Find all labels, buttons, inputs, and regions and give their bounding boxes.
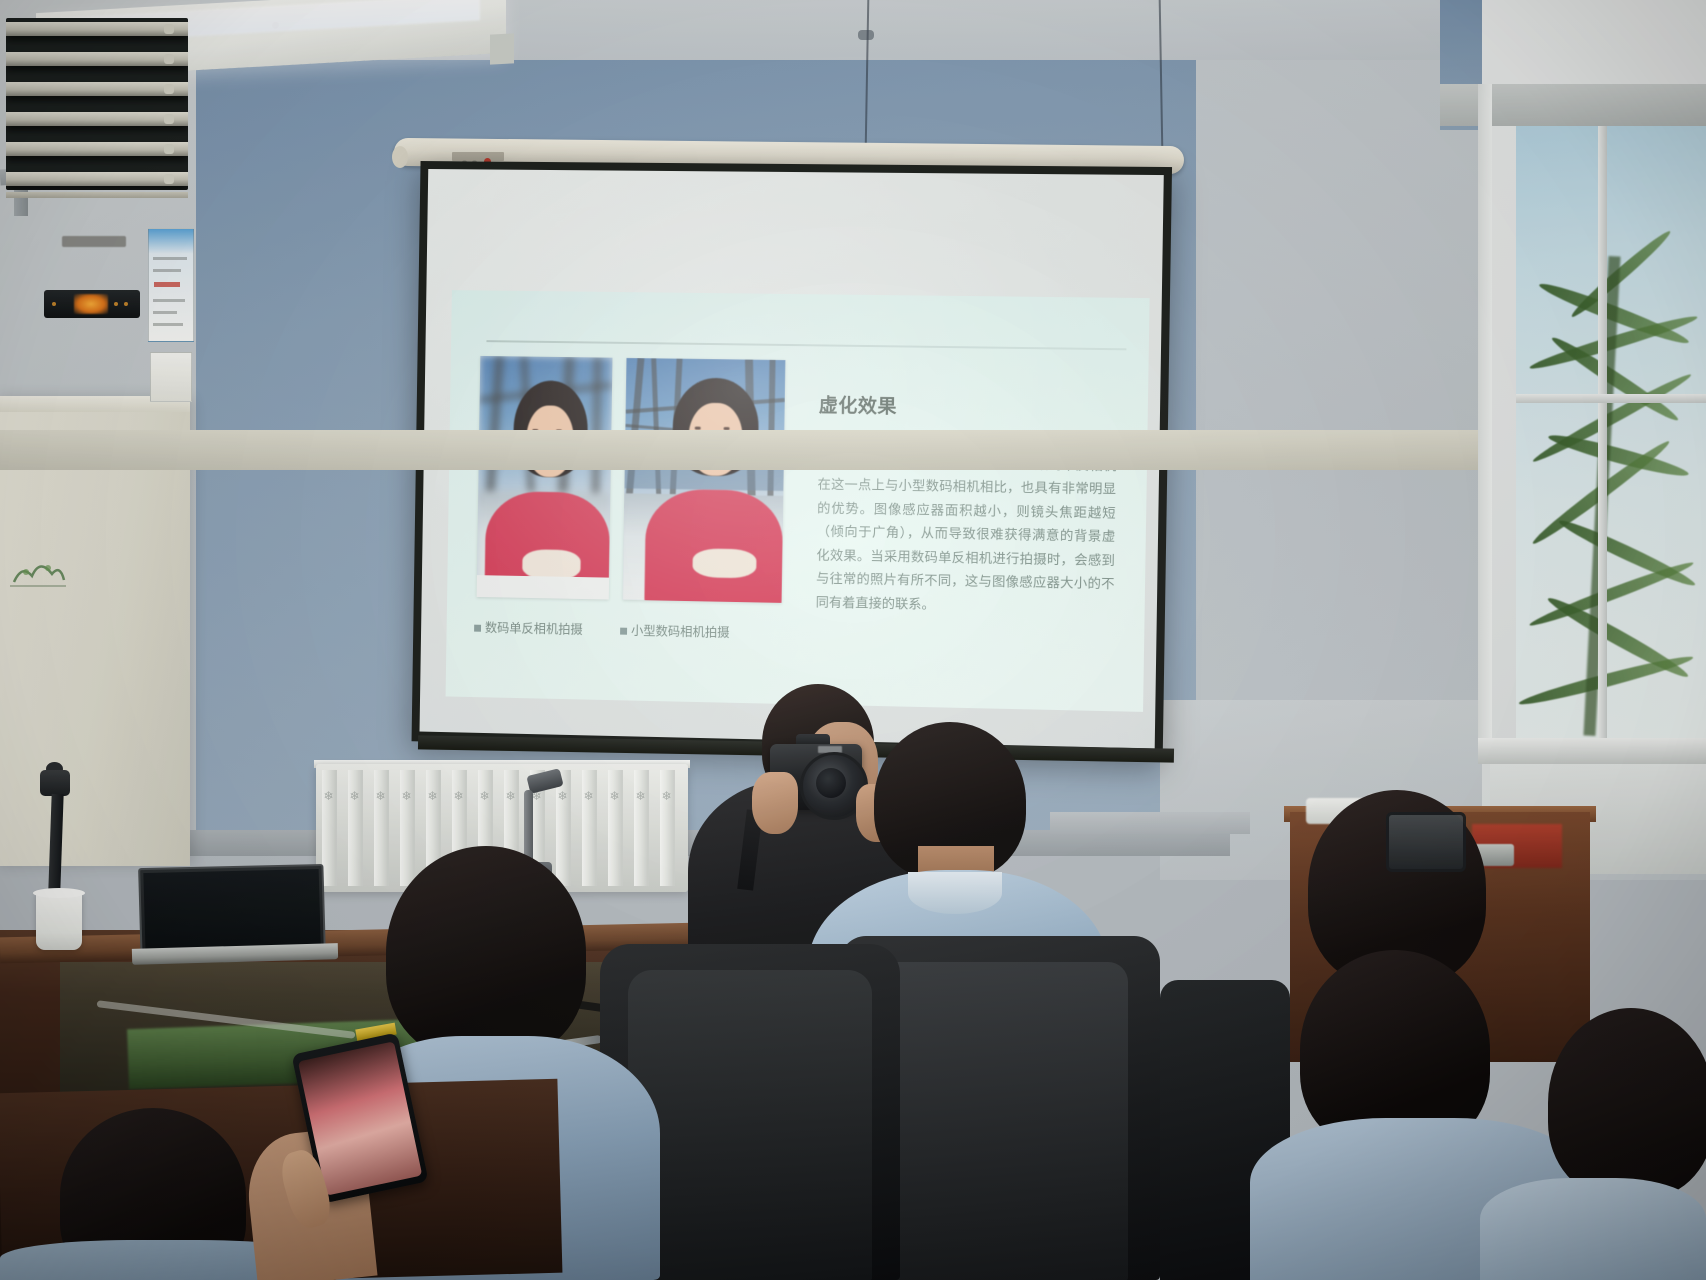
photo-red-coat bbox=[645, 489, 784, 603]
ac-brand-logo bbox=[62, 236, 126, 247]
camera-lens-aperture bbox=[816, 768, 846, 798]
caption-text: 数码单反相机拍摄 bbox=[485, 620, 583, 637]
room-photo-scene: 虚化效果 图示照片成像视觉效果的主要区别就在于背景的虚化效果不同。而能够更换镜头… bbox=[0, 0, 1706, 1280]
window-mullion-horizontal bbox=[1516, 394, 1706, 403]
ac-bottom-panel bbox=[0, 430, 1706, 470]
office-chair-center-back bbox=[872, 962, 1128, 1280]
wire-hook bbox=[858, 30, 874, 40]
window-mullion-vertical bbox=[1598, 126, 1607, 738]
slide-divider-rule bbox=[486, 340, 1126, 350]
slide-photo-dslr bbox=[477, 356, 613, 600]
slide-title: 虚化效果 bbox=[819, 390, 1122, 421]
caption-marker-icon bbox=[620, 628, 627, 635]
laptop-screen bbox=[143, 869, 320, 953]
caption-marker-icon bbox=[474, 625, 481, 632]
roller-brand-label bbox=[452, 152, 504, 161]
photo-hands bbox=[522, 550, 581, 580]
slide-caption-compact: 小型数码相机拍摄 bbox=[620, 621, 730, 641]
slide-photo-compact bbox=[623, 358, 786, 603]
ac-temperature-display bbox=[74, 294, 108, 314]
window-sill bbox=[1478, 738, 1706, 764]
ac-decorative-decal bbox=[10, 552, 66, 590]
audience-right-third-shirt bbox=[1480, 1178, 1706, 1280]
audience-right-glasses bbox=[1386, 812, 1466, 872]
paper-cup[interactable] bbox=[36, 892, 82, 950]
ac-control-panel[interactable] bbox=[44, 290, 140, 318]
window-glass bbox=[1516, 126, 1706, 738]
slide-caption-dslr: 数码单反相机拍摄 bbox=[474, 618, 583, 638]
office-chair-left-back bbox=[628, 970, 872, 1280]
audience-right-third-head bbox=[1548, 1008, 1706, 1198]
presentation-slide: 虚化效果 图示照片成像视觉效果的主要区别就在于背景的虚化效果不同。而能够更换镜头… bbox=[446, 290, 1150, 712]
window-jamb bbox=[1478, 84, 1492, 764]
presenter-left-hand bbox=[752, 772, 798, 834]
audience-left-head bbox=[386, 846, 586, 1060]
ac-secondary-sticker bbox=[150, 352, 192, 402]
baseboard-right bbox=[1050, 812, 1250, 834]
tripod-leg bbox=[48, 794, 63, 890]
ac-sticker-red-band bbox=[154, 282, 180, 287]
paper-cup-rim bbox=[33, 888, 85, 898]
photo-hands bbox=[693, 548, 757, 578]
audience-center-collar bbox=[908, 872, 1002, 914]
light-fixture-end-cap bbox=[490, 33, 514, 64]
laptop[interactable] bbox=[138, 864, 326, 955]
caption-text: 小型数码相机拍摄 bbox=[631, 623, 730, 640]
tripod-head[interactable] bbox=[40, 770, 70, 796]
roller-end-cap bbox=[392, 146, 408, 168]
ac-louver-grille bbox=[6, 18, 188, 190]
ac-divider bbox=[6, 192, 188, 198]
